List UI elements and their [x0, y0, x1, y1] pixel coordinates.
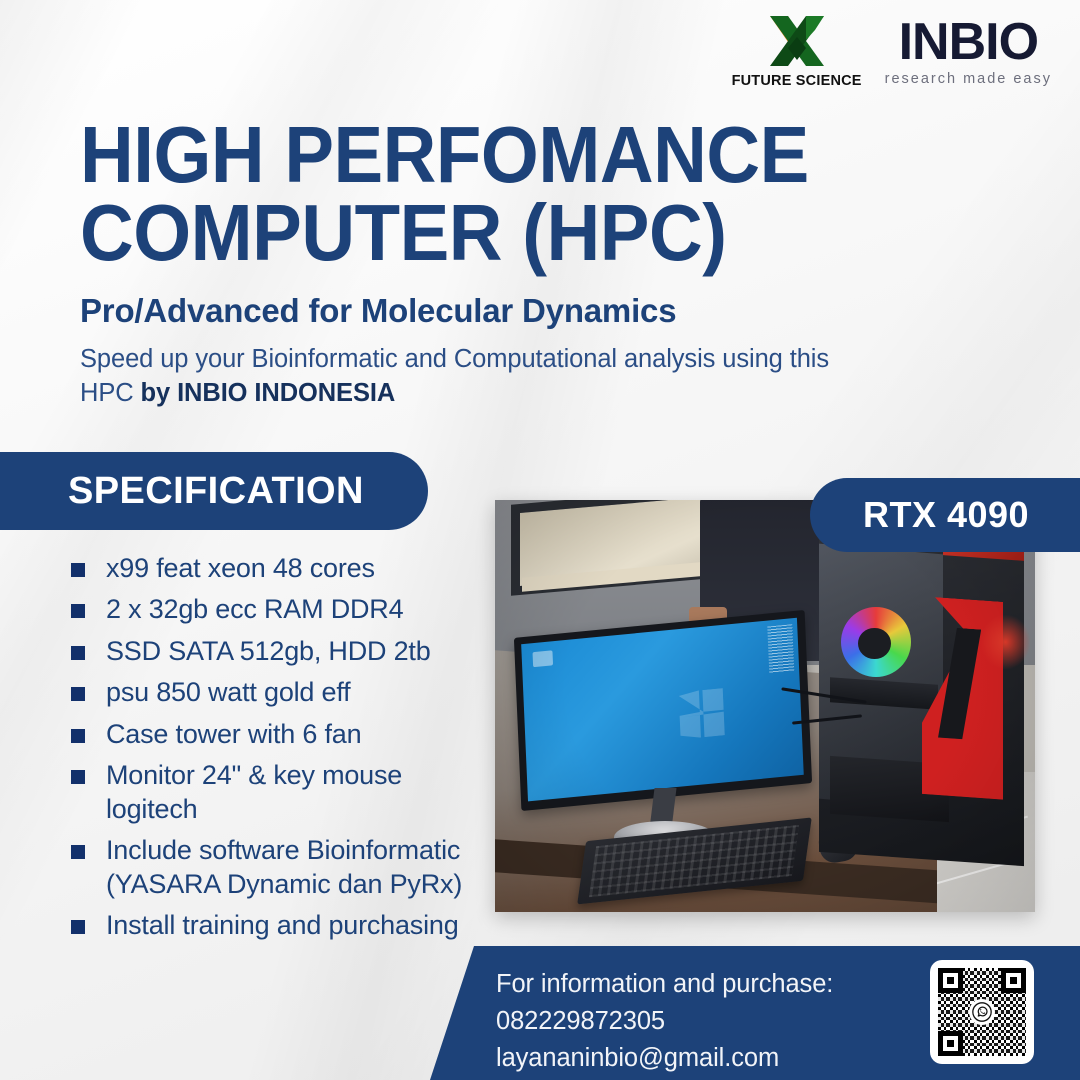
list-item: Install training and purchasing	[66, 909, 486, 942]
inbio-tagline: research made easy	[885, 71, 1052, 87]
list-item: 2 x 32gb ecc RAM DDR4	[66, 593, 486, 626]
qr-finder-icon	[938, 968, 963, 993]
list-item: Include software Bioinformatic (YASARA D…	[66, 834, 486, 901]
lead-emphasis: by INBIO INDONESIA	[141, 379, 396, 407]
inbio-wordmark: INBIO	[899, 16, 1038, 68]
bullet-square-icon	[71, 687, 85, 701]
future-science-wordmark: FUTURE SCIENCE	[732, 73, 862, 89]
bullet-square-icon	[71, 920, 85, 934]
lead-paragraph: Speed up your Bioinformatic and Computat…	[80, 342, 860, 410]
list-item-label: psu 850 watt gold eff	[106, 677, 350, 707]
list-item: SSD SATA 512gb, HDD 2tb	[66, 635, 486, 668]
list-item: psu 850 watt gold eff	[66, 676, 486, 709]
photo-vignette	[495, 500, 1035, 912]
contact-phone[interactable]: 082229872305	[496, 1003, 833, 1040]
brand-logo-row: FUTURE SCIENCE INBIO research made easy	[741, 14, 1052, 89]
x-mark-icon	[766, 14, 828, 68]
specification-banner-label: SPECIFICATION	[68, 470, 364, 513]
specification-banner: SPECIFICATION	[0, 452, 428, 530]
bullet-square-icon	[71, 646, 85, 660]
list-item: x99 feat xeon 48 cores	[66, 552, 486, 585]
bullet-square-icon	[71, 845, 85, 859]
page-title: HIGH PERFOMANCE COMPUTER (HPC)	[80, 116, 954, 271]
bullet-square-icon	[71, 729, 85, 743]
qr-finder-icon	[1001, 968, 1026, 993]
page-title-line-1: HIGH PERFOMANCE	[80, 110, 809, 199]
bullet-square-icon	[71, 770, 85, 784]
qr-finder-icon	[938, 1031, 963, 1056]
list-item-label: 2 x 32gb ecc RAM DDR4	[106, 594, 403, 624]
list-item-label: Install training and purchasing	[106, 910, 459, 940]
list-item: Monitor 24" & key mouse logitech	[66, 759, 486, 826]
contact-email[interactable]: layananinbio@gmail.com	[496, 1040, 833, 1077]
contact-heading: For information and purchase:	[496, 966, 833, 1003]
list-item-label: Monitor 24" & key mouse logitech	[106, 760, 402, 823]
poster-canvas: FUTURE SCIENCE INBIO research made easy …	[0, 0, 1080, 1080]
whatsapp-icon	[969, 999, 995, 1025]
page-subtitle: Pro/Advanced for Molecular Dynamics	[80, 292, 676, 330]
contact-footer: For information and purchase: 0822298723…	[430, 946, 1080, 1080]
qr-matrix	[938, 968, 1026, 1056]
gpu-badge: RTX 4090	[810, 478, 1080, 552]
whatsapp-qr-code[interactable]	[930, 960, 1034, 1064]
product-photo	[495, 500, 1035, 912]
list-item: Case tower with 6 fan	[66, 718, 486, 751]
list-item-label: x99 feat xeon 48 cores	[106, 553, 375, 583]
list-item-label: SSD SATA 512gb, HDD 2tb	[106, 636, 431, 666]
specification-list: x99 feat xeon 48 cores 2 x 32gb ecc RAM …	[66, 552, 486, 951]
future-science-logo: FUTURE SCIENCE	[741, 14, 853, 89]
list-item-label: Include software Bioinformatic (YASARA D…	[106, 835, 462, 898]
bullet-square-icon	[71, 604, 85, 618]
bullet-square-icon	[71, 563, 85, 577]
inbio-logo: INBIO research made easy	[885, 14, 1052, 87]
page-title-line-2: COMPUTER (HPC)	[80, 188, 727, 277]
gpu-badge-label: RTX 4090	[863, 494, 1047, 536]
contact-details: For information and purchase: 0822298723…	[496, 966, 833, 1077]
list-item-label: Case tower with 6 fan	[106, 719, 361, 749]
whatsapp-glyph	[972, 1002, 992, 1022]
